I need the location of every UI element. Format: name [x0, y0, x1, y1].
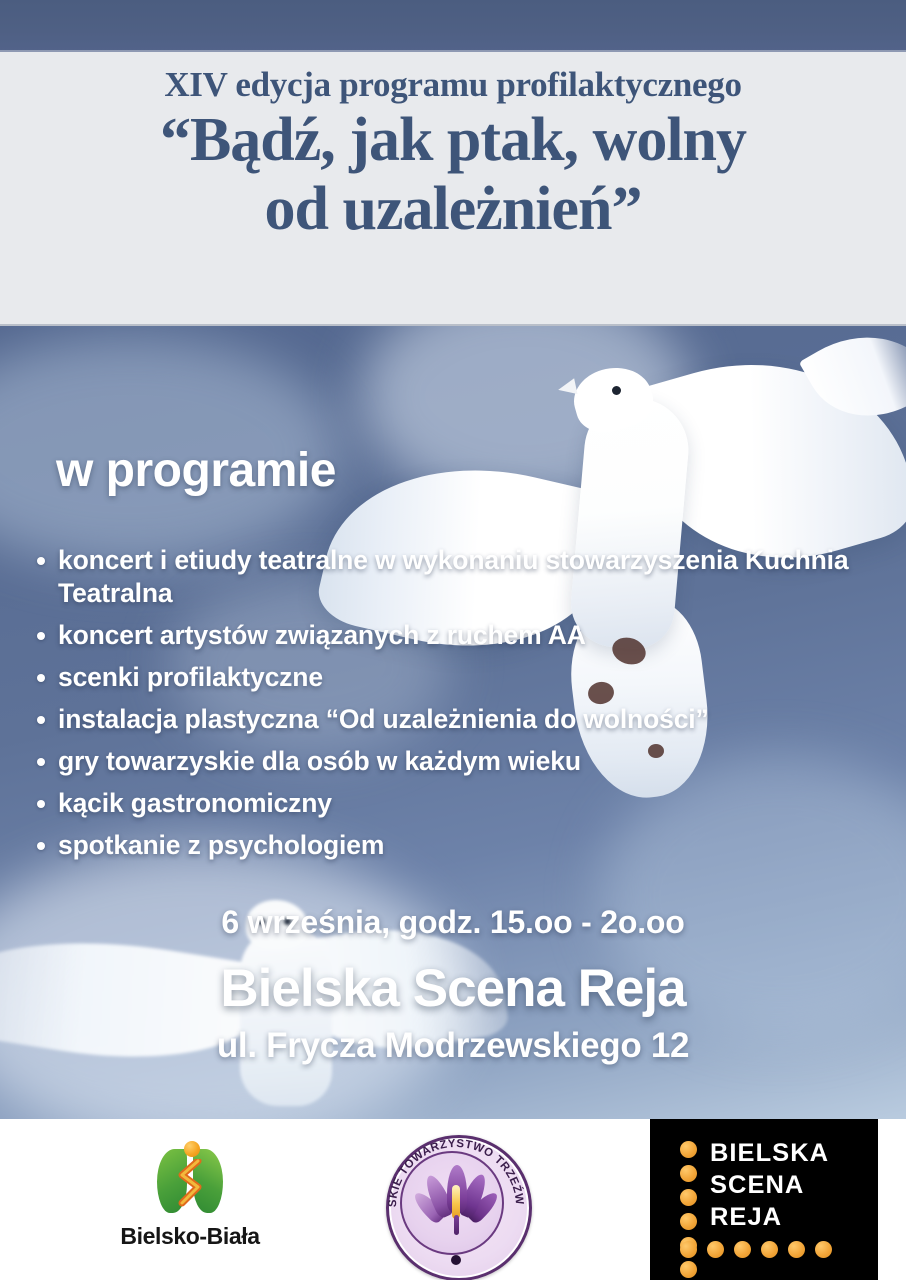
list-item: kącik gastronomiczny — [28, 787, 890, 820]
program-list: koncert i etiudy teatralne w wykonaniu s… — [28, 544, 890, 871]
program-heading: w programie — [56, 443, 336, 498]
venue-logo-line-1: BIELSKA — [710, 1137, 829, 1169]
dot — [680, 1189, 697, 1206]
dot — [815, 1241, 832, 1258]
crest-orange-dot — [184, 1141, 200, 1157]
poster-root: XIV edycja programu profilaktycznego “Bą… — [0, 0, 906, 1280]
poster-headline: “Bądź, jak ptak, wolny od uzależnień” — [0, 106, 906, 245]
dot — [680, 1241, 697, 1258]
bielsko-biala-city-crest-icon — [154, 1141, 226, 1213]
crocus-flower-icon — [421, 1165, 491, 1237]
dot — [734, 1241, 751, 1258]
event-date-time: 6 września, godz. 15.oo - 2o.oo — [0, 904, 906, 941]
headline-line-2: od uzależnień” — [0, 175, 906, 244]
crocus-pistil — [452, 1185, 460, 1219]
city-logo-label: Bielsko-Biała — [70, 1223, 310, 1250]
dot — [680, 1261, 697, 1278]
list-item: instalacja plastyczna “Od uzależnienia d… — [28, 703, 890, 736]
venue-logo-line-3: REJA — [710, 1201, 829, 1233]
dot — [761, 1241, 778, 1258]
dot — [680, 1141, 697, 1158]
city-logo: Bielsko-Biała — [70, 1141, 310, 1271]
poster-kicker: XIV edycja programu profilaktycznego — [0, 66, 906, 104]
sky-photo: w programie koncert i etiudy teatralne w… — [0, 326, 906, 1119]
association-bottom-dot — [451, 1255, 461, 1265]
dot — [680, 1165, 697, 1182]
event-street-address: ul. Frycza Modrzewskiego 12 — [0, 1026, 906, 1066]
association-logo: BIELSKIE TOWARZYSTWO TRZEŹWOŚCI — [380, 1131, 532, 1279]
headline-line-1: “Bądź, jak ptak, wolny — [0, 106, 906, 175]
dot — [788, 1241, 805, 1258]
list-item: scenki profilaktyczne — [28, 661, 890, 694]
venue-logo-line-2: SCENA — [710, 1169, 829, 1201]
venue-logo-dots-horizontal — [680, 1241, 832, 1258]
venue-logo-wordmark: BIELSKA SCENA REJA — [710, 1137, 827, 1233]
footer-logo-bar: Bielsko-Biała BIELSKIE TOWARZYSTWO TRZEŹ… — [0, 1119, 906, 1280]
photo-text-overlay: w programie koncert i etiudy teatralne w… — [0, 326, 906, 1119]
crest-zigzag — [176, 1159, 206, 1211]
list-item: koncert artystów związanych z ruchem AA — [28, 619, 890, 652]
title-panel: XIV edycja programu profilaktycznego “Bą… — [0, 52, 906, 326]
venue-logo: BIELSKA SCENA REJA — [650, 1119, 878, 1280]
dot — [680, 1213, 697, 1230]
dot — [707, 1241, 724, 1258]
list-item: gry towarzyskie dla osób w każdym wieku — [28, 745, 890, 778]
crocus-stem — [454, 1215, 459, 1235]
top-color-band — [0, 0, 906, 52]
list-item: spotkanie z psychologiem — [28, 829, 890, 862]
venue-logo-dots-vertical — [680, 1141, 697, 1280]
list-item: koncert i etiudy teatralne w wykonaniu s… — [28, 544, 890, 610]
event-venue-name: Bielska Scena Reja — [0, 958, 906, 1019]
